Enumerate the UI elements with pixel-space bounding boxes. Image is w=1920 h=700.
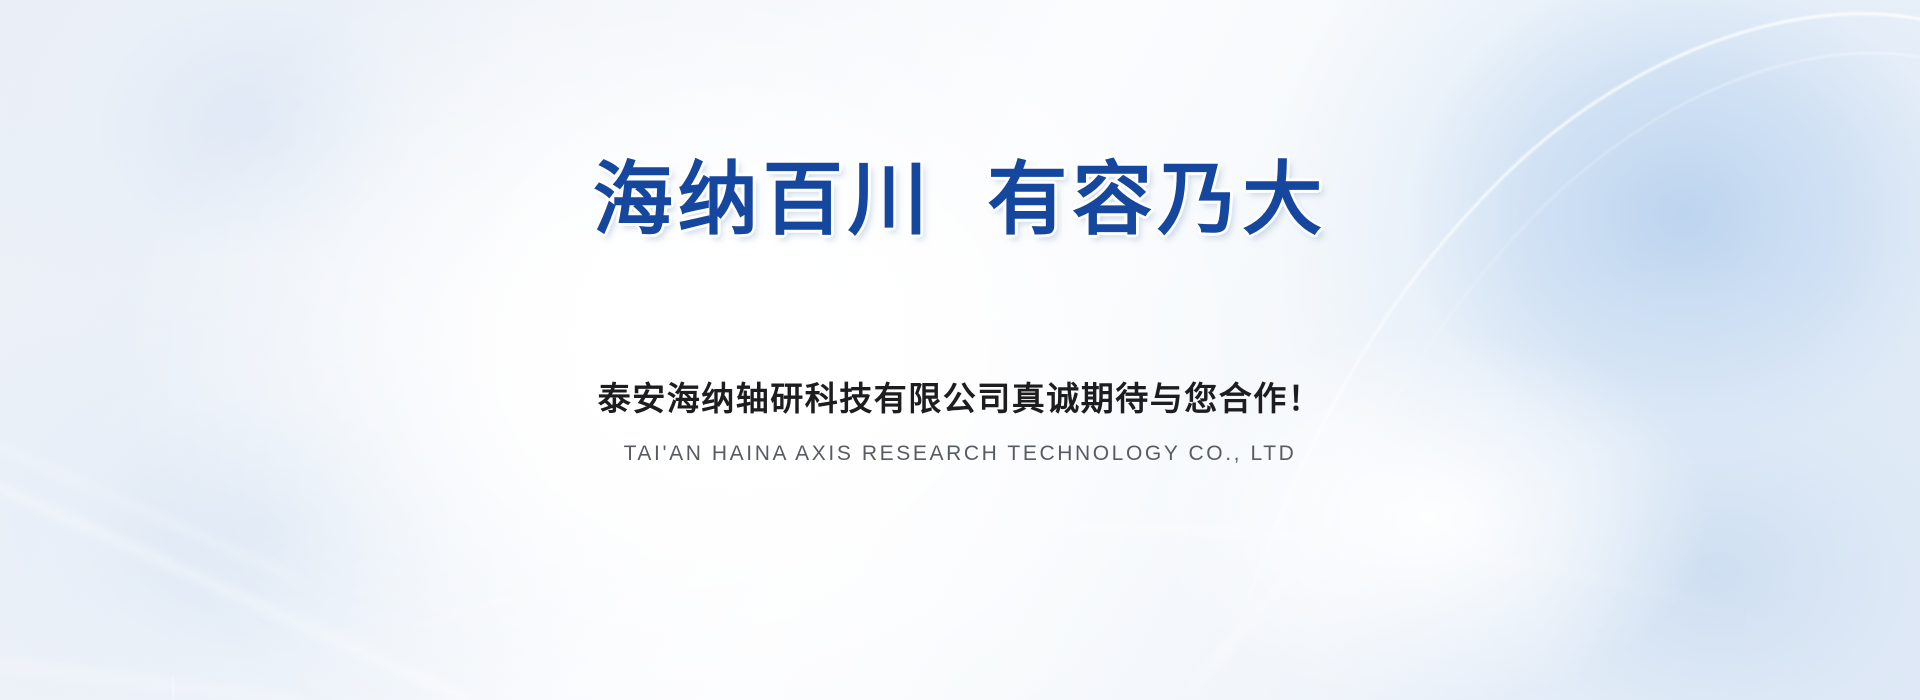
- hero-banner: 海纳百川 有容乃大 泰安海纳轴研科技有限公司真诚期待与您合作！ TAI'AN H…: [0, 0, 1920, 700]
- company-english-name: TAI'AN HAINA AXIS RESEARCH TECHNOLOGY CO…: [0, 440, 1920, 467]
- banner-content: 海纳百川 有容乃大 泰安海纳轴研科技有限公司真诚期待与您合作！ TAI'AN H…: [0, 0, 1920, 700]
- page-title: 海纳百川 有容乃大: [0, 158, 1920, 242]
- company-tagline: 泰安海纳轴研科技有限公司真诚期待与您合作！: [0, 378, 1920, 419]
